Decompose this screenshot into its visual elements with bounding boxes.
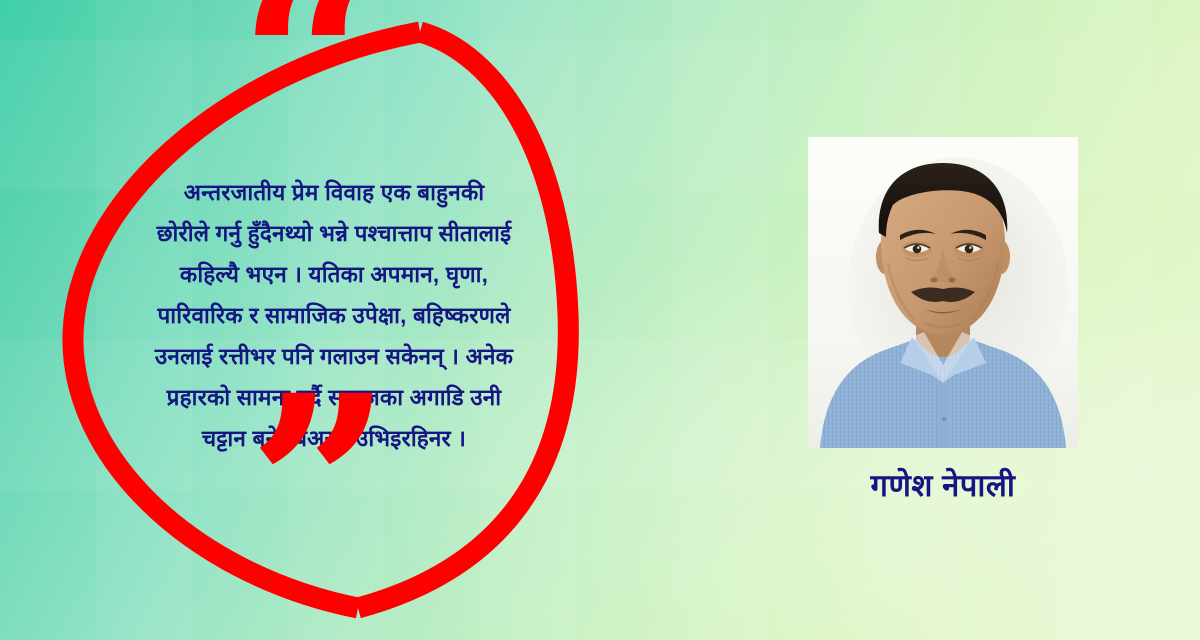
portrait-photo [808, 137, 1078, 448]
quote-line: पारिवारिक र सामाजिक उपेक्षा, बहिष्करणले [74, 295, 594, 336]
quote-card: “ अन्तरजातीय प्रेम विवाह एक बाहुनकी छोरी… [0, 0, 1200, 640]
quote-line: अन्तरजातीय प्रेम विवाह एक बाहुनकी [74, 172, 594, 213]
quote-line: छोरीले गर्नु हुँदैनथ्यो भन्ने पश्चात्ताप… [74, 213, 594, 254]
person-name: गणेश नेपाली [808, 466, 1078, 506]
close-quote-icon: ” [248, 362, 396, 612]
quote-line: कहिल्यै भएन । यतिका अपमान, घृणा, [74, 254, 594, 295]
open-quote-icon: “ [238, 0, 386, 186]
